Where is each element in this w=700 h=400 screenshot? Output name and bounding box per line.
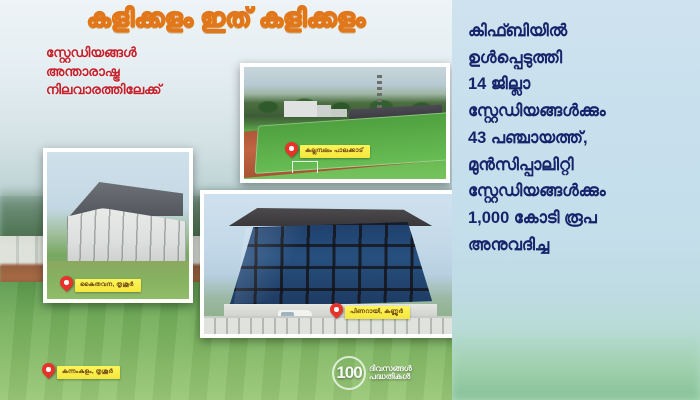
logo-caption: ദിവസങ്ങൾ പദ്ധതികൾ (369, 365, 412, 382)
description-line-1: കിഫ്ബിയിൽ (468, 18, 694, 45)
photo-glass-building (200, 190, 452, 338)
description-line-4: സ്റ്റേഡിയങ്ങൾക്കും (468, 98, 694, 125)
location-pin-label: കല്ലമ്പലം പാലക്കാട് (300, 145, 370, 158)
map-pin-icon-dot (334, 307, 339, 312)
map-pin-icon-dot (46, 367, 51, 372)
description-line-8: 1,000 കോടി രൂപ (468, 205, 694, 232)
location-pin-background-field: കുന്നംകുളം, തൃശൂർ (42, 363, 120, 381)
glass-reflection (234, 224, 333, 304)
pavilion-building (284, 101, 316, 117)
map-pin-icon (60, 276, 73, 294)
subheadline-line-2: അന്താരാഷ്ട്ര (46, 63, 256, 82)
photo-stadium-aerial (240, 63, 450, 183)
logo-ring-icon: 100 (332, 356, 366, 390)
subheadline-line-1: സ്റ്റേഡിയങ്ങൾ (46, 44, 256, 63)
description-line-7: സ്റ്റേഡിയങ്ങൾക്കും (468, 178, 694, 205)
floodlight-tower (377, 75, 382, 109)
logo-caption-line-2: പദ്ധതികൾ (369, 373, 412, 381)
logo-number: 100 (336, 363, 361, 383)
location-pin-label: കൈതവന, തൃശൂർ (75, 279, 141, 292)
location-pin-label: കുന്നംകുളം, തൃശൂർ (57, 366, 120, 379)
location-pin-stadium-aerial: കല്ലമ്പലം പാലക്കാട് (285, 142, 370, 160)
hundred-days-logo: 100 ദിവസങ്ങൾ പദ്ധതികൾ (332, 356, 412, 390)
map-pin-icon-dot (289, 146, 294, 151)
poster-headline: കളിക്കളം ഇത് കളിക്കളം (0, 4, 452, 33)
map-pin-icon-dot (64, 280, 69, 285)
description-line-9: അനുവദിച്ച (468, 232, 694, 259)
goal-post (292, 161, 318, 173)
map-pin-icon (330, 303, 343, 321)
location-pin-label: പിണറായി, കണ്ണൂർ (345, 306, 410, 319)
map-pin-icon (285, 142, 298, 160)
photo-stadium-aerial-image (244, 67, 446, 179)
description-panel: കിഫ്ബിയിൽ ഉൾപ്പെടുത്തി 14 ജില്ലാ സ്റ്റേഡ… (452, 0, 700, 400)
boundary-fence (204, 316, 452, 334)
subheadline-line-3: നിലവാരത്തിലേക്ക് (46, 81, 256, 100)
poster-root: കളിക്കളം ഇത് കളിക്കളം സ്റ്റേഡിയങ്ങൾ അന്ത… (0, 0, 700, 400)
hall-roof (70, 182, 184, 216)
description-line-2: ഉൾപ്പെടുത്തി (468, 45, 694, 72)
location-pin-glass-building: പിണറായി, കണ്ണൂർ (330, 303, 410, 321)
description-line-6: മുൻസിപ്പാലിറ്റി (468, 152, 694, 179)
poster-subheadline: സ്റ്റേഡിയങ്ങൾ അന്താരാഷ്ട്ര നിലവാരത്തിലേക… (46, 44, 256, 100)
description-line-5: 43 പഞ്ചായത്ത്, (468, 125, 694, 152)
photo-glass-building-image (204, 194, 452, 334)
description-line-3: 14 ജില്ലാ (468, 71, 694, 98)
map-pin-icon (42, 363, 55, 381)
description-text: കിഫ്ബിയിൽ ഉൾപ്പെടുത്തി 14 ജില്ലാ സ്റ്റേഡ… (452, 0, 700, 258)
location-pin-indoor-hall: കൈതവന, തൃശൂർ (60, 276, 141, 294)
collage-panel: കളിക്കളം ഇത് കളിക്കളം സ്റ്റേഡിയങ്ങൾ അന്ത… (0, 0, 452, 400)
